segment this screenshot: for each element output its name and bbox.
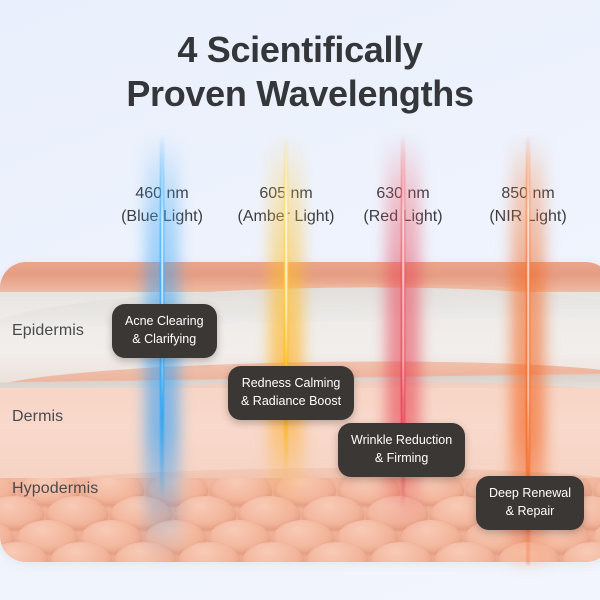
fat-lobule — [306, 542, 368, 562]
callout-line-2: & Radiance Boost — [241, 393, 341, 411]
fat-lobule-row — [0, 542, 600, 562]
title-line-2: Proven Wavelengths — [0, 72, 600, 116]
callout-line-2: & Repair — [489, 503, 571, 521]
callout-line-1: Acne Clearing — [125, 314, 204, 328]
fat-lobule — [370, 542, 432, 562]
fat-lobule — [0, 542, 48, 562]
wavelength-nm-850: 850 nm — [501, 185, 554, 202]
title-line-1: 4 Scientifically — [0, 28, 600, 72]
callout-deep-renewal[interactable]: Deep Renewal & Repair — [476, 476, 584, 530]
callout-wrinkle-reduction[interactable]: Wrinkle Reduction & Firming — [338, 423, 465, 477]
wavelength-nm-605: 605 nm — [259, 185, 312, 202]
layer-label-epidermis: Epidermis — [12, 322, 84, 340]
callout-line-2: & Firming — [351, 450, 452, 468]
callout-line-1: Wrinkle Reduction — [351, 433, 452, 447]
fat-lobule — [178, 542, 240, 562]
wavelength-label-850nm: 850 nm (NIR Light) — [453, 182, 600, 228]
fat-lobule — [498, 542, 560, 562]
fat-lobule — [50, 542, 112, 562]
wavelength-nm-460: 460 nm — [135, 185, 188, 202]
wavelength-name-850: (NIR Light) — [453, 205, 600, 228]
fat-lobule — [434, 542, 496, 562]
page-title: 4 Scientifically Proven Wavelengths — [0, 28, 600, 116]
callout-line-1: Redness Calming — [242, 376, 341, 390]
fat-lobule — [242, 542, 304, 562]
fat-lobule — [114, 542, 176, 562]
callout-line-2: & Clarifying — [125, 331, 204, 349]
fat-lobule — [562, 542, 600, 562]
layer-label-hypodermis: Hypodermis — [12, 480, 98, 498]
wavelength-nm-630: 630 nm — [376, 185, 429, 202]
callout-line-1: Deep Renewal — [489, 486, 571, 500]
callout-redness-calming[interactable]: Redness Calming & Radiance Boost — [228, 366, 354, 420]
layer-label-dermis: Dermis — [12, 408, 63, 426]
callout-acne-clearing[interactable]: Acne Clearing & Clarifying — [112, 304, 217, 358]
